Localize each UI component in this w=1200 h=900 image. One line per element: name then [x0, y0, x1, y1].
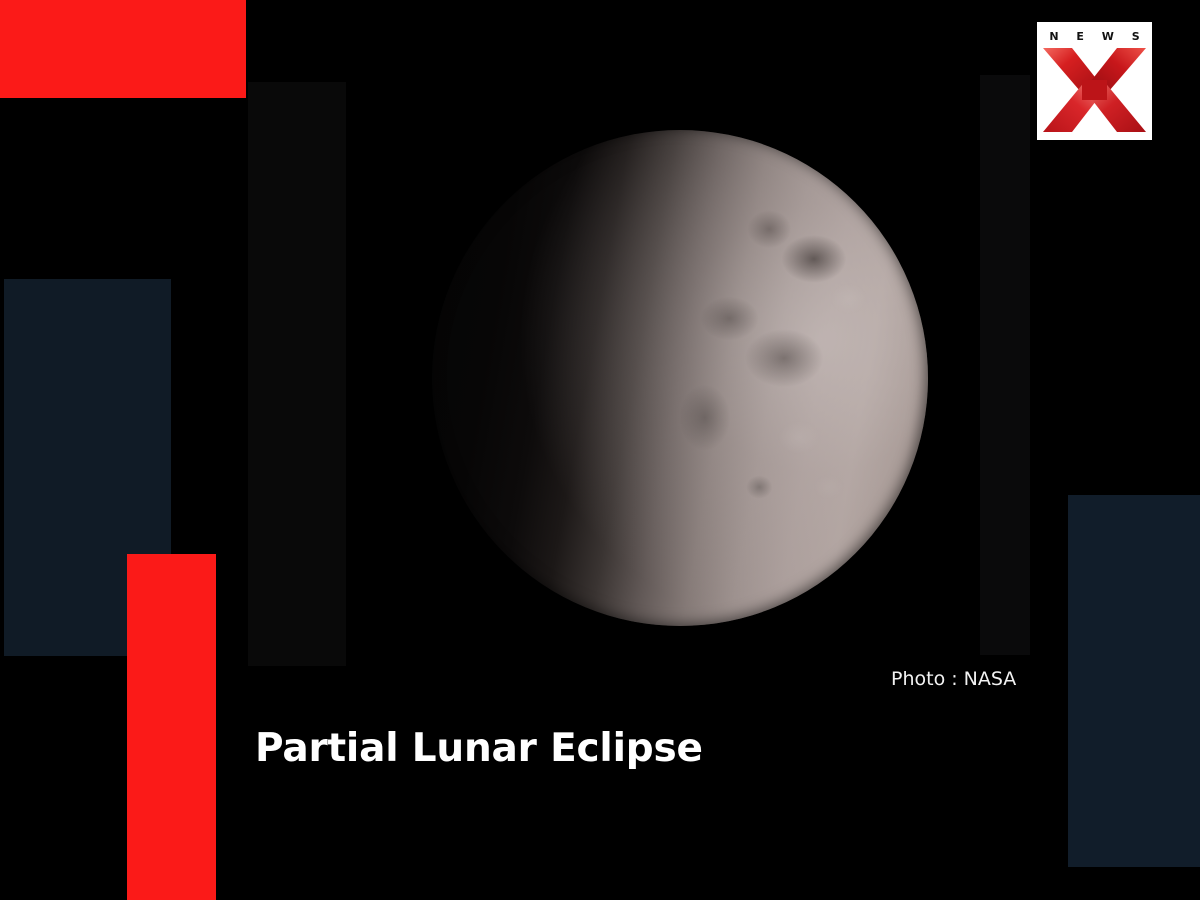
logo-x-icon — [1042, 46, 1147, 134]
logo-wordmark: N E W S — [1037, 30, 1152, 43]
moon-photo — [346, 0, 980, 700]
decor-block-charcoal-left — [248, 82, 346, 666]
moon-limb-shading — [432, 130, 928, 626]
moon-disc — [432, 130, 928, 626]
decor-block-charcoal-right — [980, 75, 1030, 655]
photo-credit: Photo : NASA — [891, 668, 1016, 690]
headline: Partial Lunar Eclipse — [255, 726, 703, 771]
decor-block-navy-right — [1068, 495, 1200, 867]
news-card: N E W S — [0, 0, 1200, 900]
newsx-logo[interactable]: N E W S — [1037, 22, 1152, 140]
decor-block-navy-left — [4, 279, 171, 656]
decor-block-red-bottom-left — [127, 554, 216, 900]
decor-block-red-top-left — [0, 0, 246, 98]
